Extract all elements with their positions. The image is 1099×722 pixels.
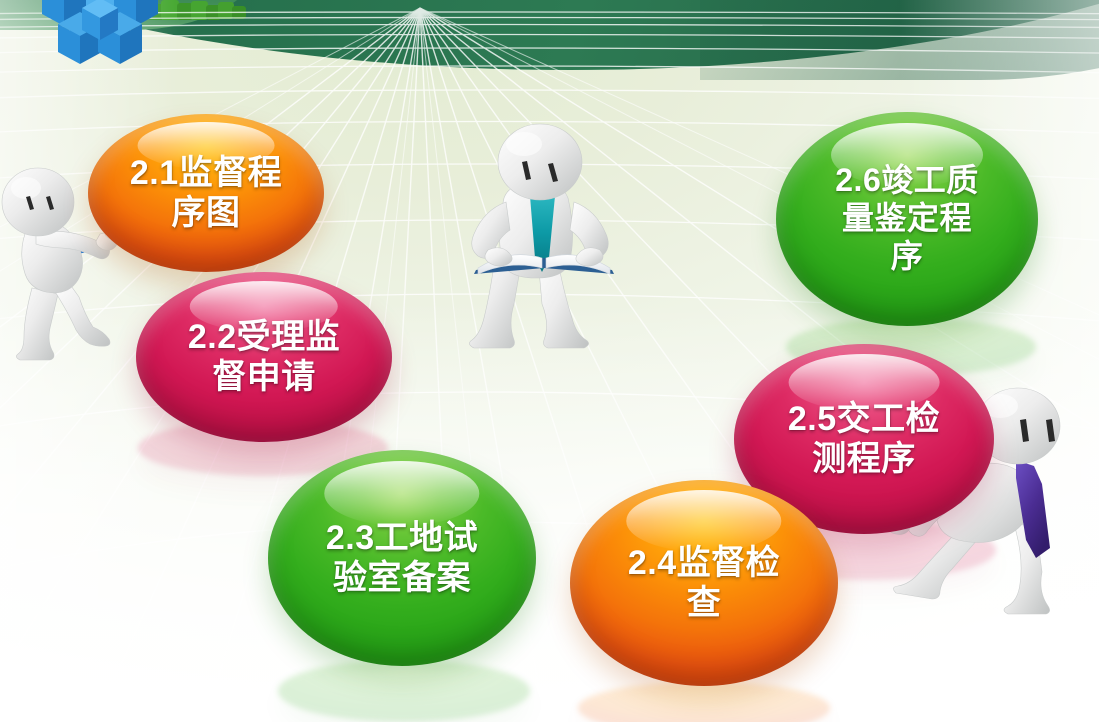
bubble-label-2-3: 2.3工地试 验室备案 — [312, 518, 492, 598]
bubble-2-1[interactable]: 2.1监督程 序图 — [88, 114, 324, 272]
bubble-2-4[interactable]: 2.4监督检 查 — [570, 480, 838, 686]
bubble-2-6[interactable]: 2.6竣工质 量鉴定程 序 — [776, 112, 1038, 326]
bubble-2-3[interactable]: 2.3工地试 验室备案 — [268, 450, 536, 666]
mannequin-reading-book — [448, 122, 648, 370]
bubble-2-2[interactable]: 2.2受理监 督申请 — [136, 272, 392, 442]
bubble-gloss-2-3 — [324, 461, 479, 526]
bubble-label-2-6: 2.6竣工质 量鉴定程 序 — [821, 162, 993, 275]
bubble-label-2-2: 2.2受理监 督申请 — [174, 317, 354, 397]
bubble-label-2-5: 2.5交工检 测程序 — [774, 399, 954, 479]
bubble-label-2-1: 2.1监督程 序图 — [116, 153, 296, 233]
bubble-label-2-4: 2.4监督检 查 — [614, 543, 794, 623]
slide-canvas: 2.1监督程 序图 2.2受理监 督申请 2.3工地试 验室备案 2.4监督检 … — [0, 0, 1099, 722]
blue-cube-logo — [30, 0, 170, 89]
